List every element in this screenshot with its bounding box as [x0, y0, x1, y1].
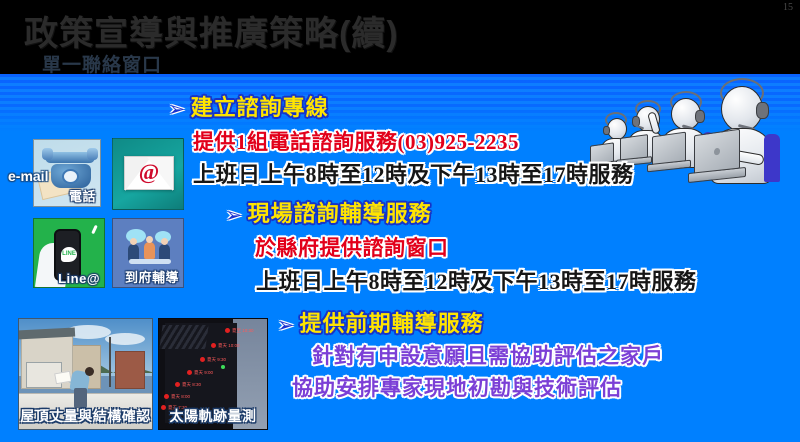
roof-louvers-shape [159, 325, 208, 349]
bullet-arrow-icon: ➢ [168, 99, 186, 120]
person-shape [144, 242, 155, 259]
tile-caption: 到府輔導 [113, 267, 183, 286]
sun-marker-label: 夏天 10:00 [211, 343, 240, 349]
page-title: 政策宣導與推廣策略(續) [24, 6, 399, 55]
dial-shape [62, 169, 79, 184]
tile-line-app[interactable]: LINE Line@ [33, 218, 105, 288]
section-heading-text: 建立諮詢專線 [191, 90, 329, 122]
photo-caption: 太陽軌跡量測 [159, 406, 267, 426]
slide-canvas: 15 政策宣導與推廣策略(續) 單一聯絡窗口 [0, 0, 800, 442]
spark-icon [91, 225, 98, 234]
bullet-arrow-icon: ➢ [277, 315, 295, 336]
apple-logo-icon [714, 148, 720, 156]
photo-caption: 屋頂丈量與結構確認 [19, 406, 152, 426]
tile-caption: 電話 [34, 186, 100, 205]
at-symbol-icon: @ [125, 159, 173, 185]
envelope-at-icon: @ [124, 156, 174, 190]
sun-marker-label: 夏天 8:00 [164, 394, 190, 400]
handset-shape [45, 152, 95, 163]
line-logo-icon: LINE [61, 247, 77, 262]
table-shape [129, 259, 171, 264]
bullet-arrow-icon: ➢ [225, 205, 243, 226]
section-1-line-1: 提供1組電話諮詢服務(03)925-2235 [193, 126, 519, 156]
section-3-line-1: 針對有申設意願且需協助評估之家戶 [312, 340, 664, 370]
section-2-line-1: 於縣府提供諮詢窗口 [255, 232, 449, 262]
telephone-icon [51, 164, 91, 188]
section-1-heading: ➢建立諮詢專線 [168, 90, 329, 122]
sun-path-photo[interactable]: 夏至 10:30 夏天 10:00 夏天 9:30 夏天 9:00 夏天 8:3… [158, 318, 268, 430]
section-2-line-2: 上班日上午8時至12時及下午13時至17時服務 [256, 264, 697, 296]
earcup-shape [695, 110, 705, 123]
building-shape [115, 351, 145, 389]
section-3-heading: ➢提供前期輔導服務 [277, 306, 484, 338]
tile-caption: Line@ [34, 271, 104, 286]
section-2-heading: ➢現場諮詢輔導服務 [225, 196, 432, 228]
cloud-shape [105, 333, 145, 345]
worker-leg [74, 388, 87, 408]
slide-header: 15 政策宣導與推廣策略(續) 單一聯絡窗口 [0, 0, 800, 74]
tile-home-visit[interactable]: 到府輔導 [112, 218, 184, 288]
sun-marker-label: 夏天 9:00 [187, 370, 213, 376]
section-1-line-2: 上班日上午8時至12時及下午13時至17時服務 [193, 157, 634, 189]
section-heading-text: 現場諮詢輔導服務 [248, 196, 432, 228]
page-subtitle: 單一聯絡窗口 [42, 50, 162, 77]
sun-marker-label: 夏至 10:30 [225, 328, 254, 334]
roof-survey-photo[interactable]: 屋頂丈量與結構確認 [18, 318, 153, 430]
utility-pole-shape [109, 337, 111, 387]
chair-back [764, 134, 780, 182]
earcup-shape [756, 102, 769, 119]
section-heading-text: 提供前期輔導服務 [300, 306, 484, 338]
section-3-line-2: 協助安排專家現地初勘與技術評估 [292, 372, 622, 402]
email-label: e-mail [8, 168, 48, 184]
green-marker-dot [221, 365, 225, 369]
earcup-shape [603, 126, 610, 135]
page-number: 15 [783, 2, 793, 13]
sun-marker-label: 夏天 8:30 [175, 382, 201, 388]
worker-head [85, 367, 94, 376]
sun-marker-label: 夏天 9:30 [200, 357, 226, 363]
tile-email[interactable]: @ [112, 138, 184, 210]
